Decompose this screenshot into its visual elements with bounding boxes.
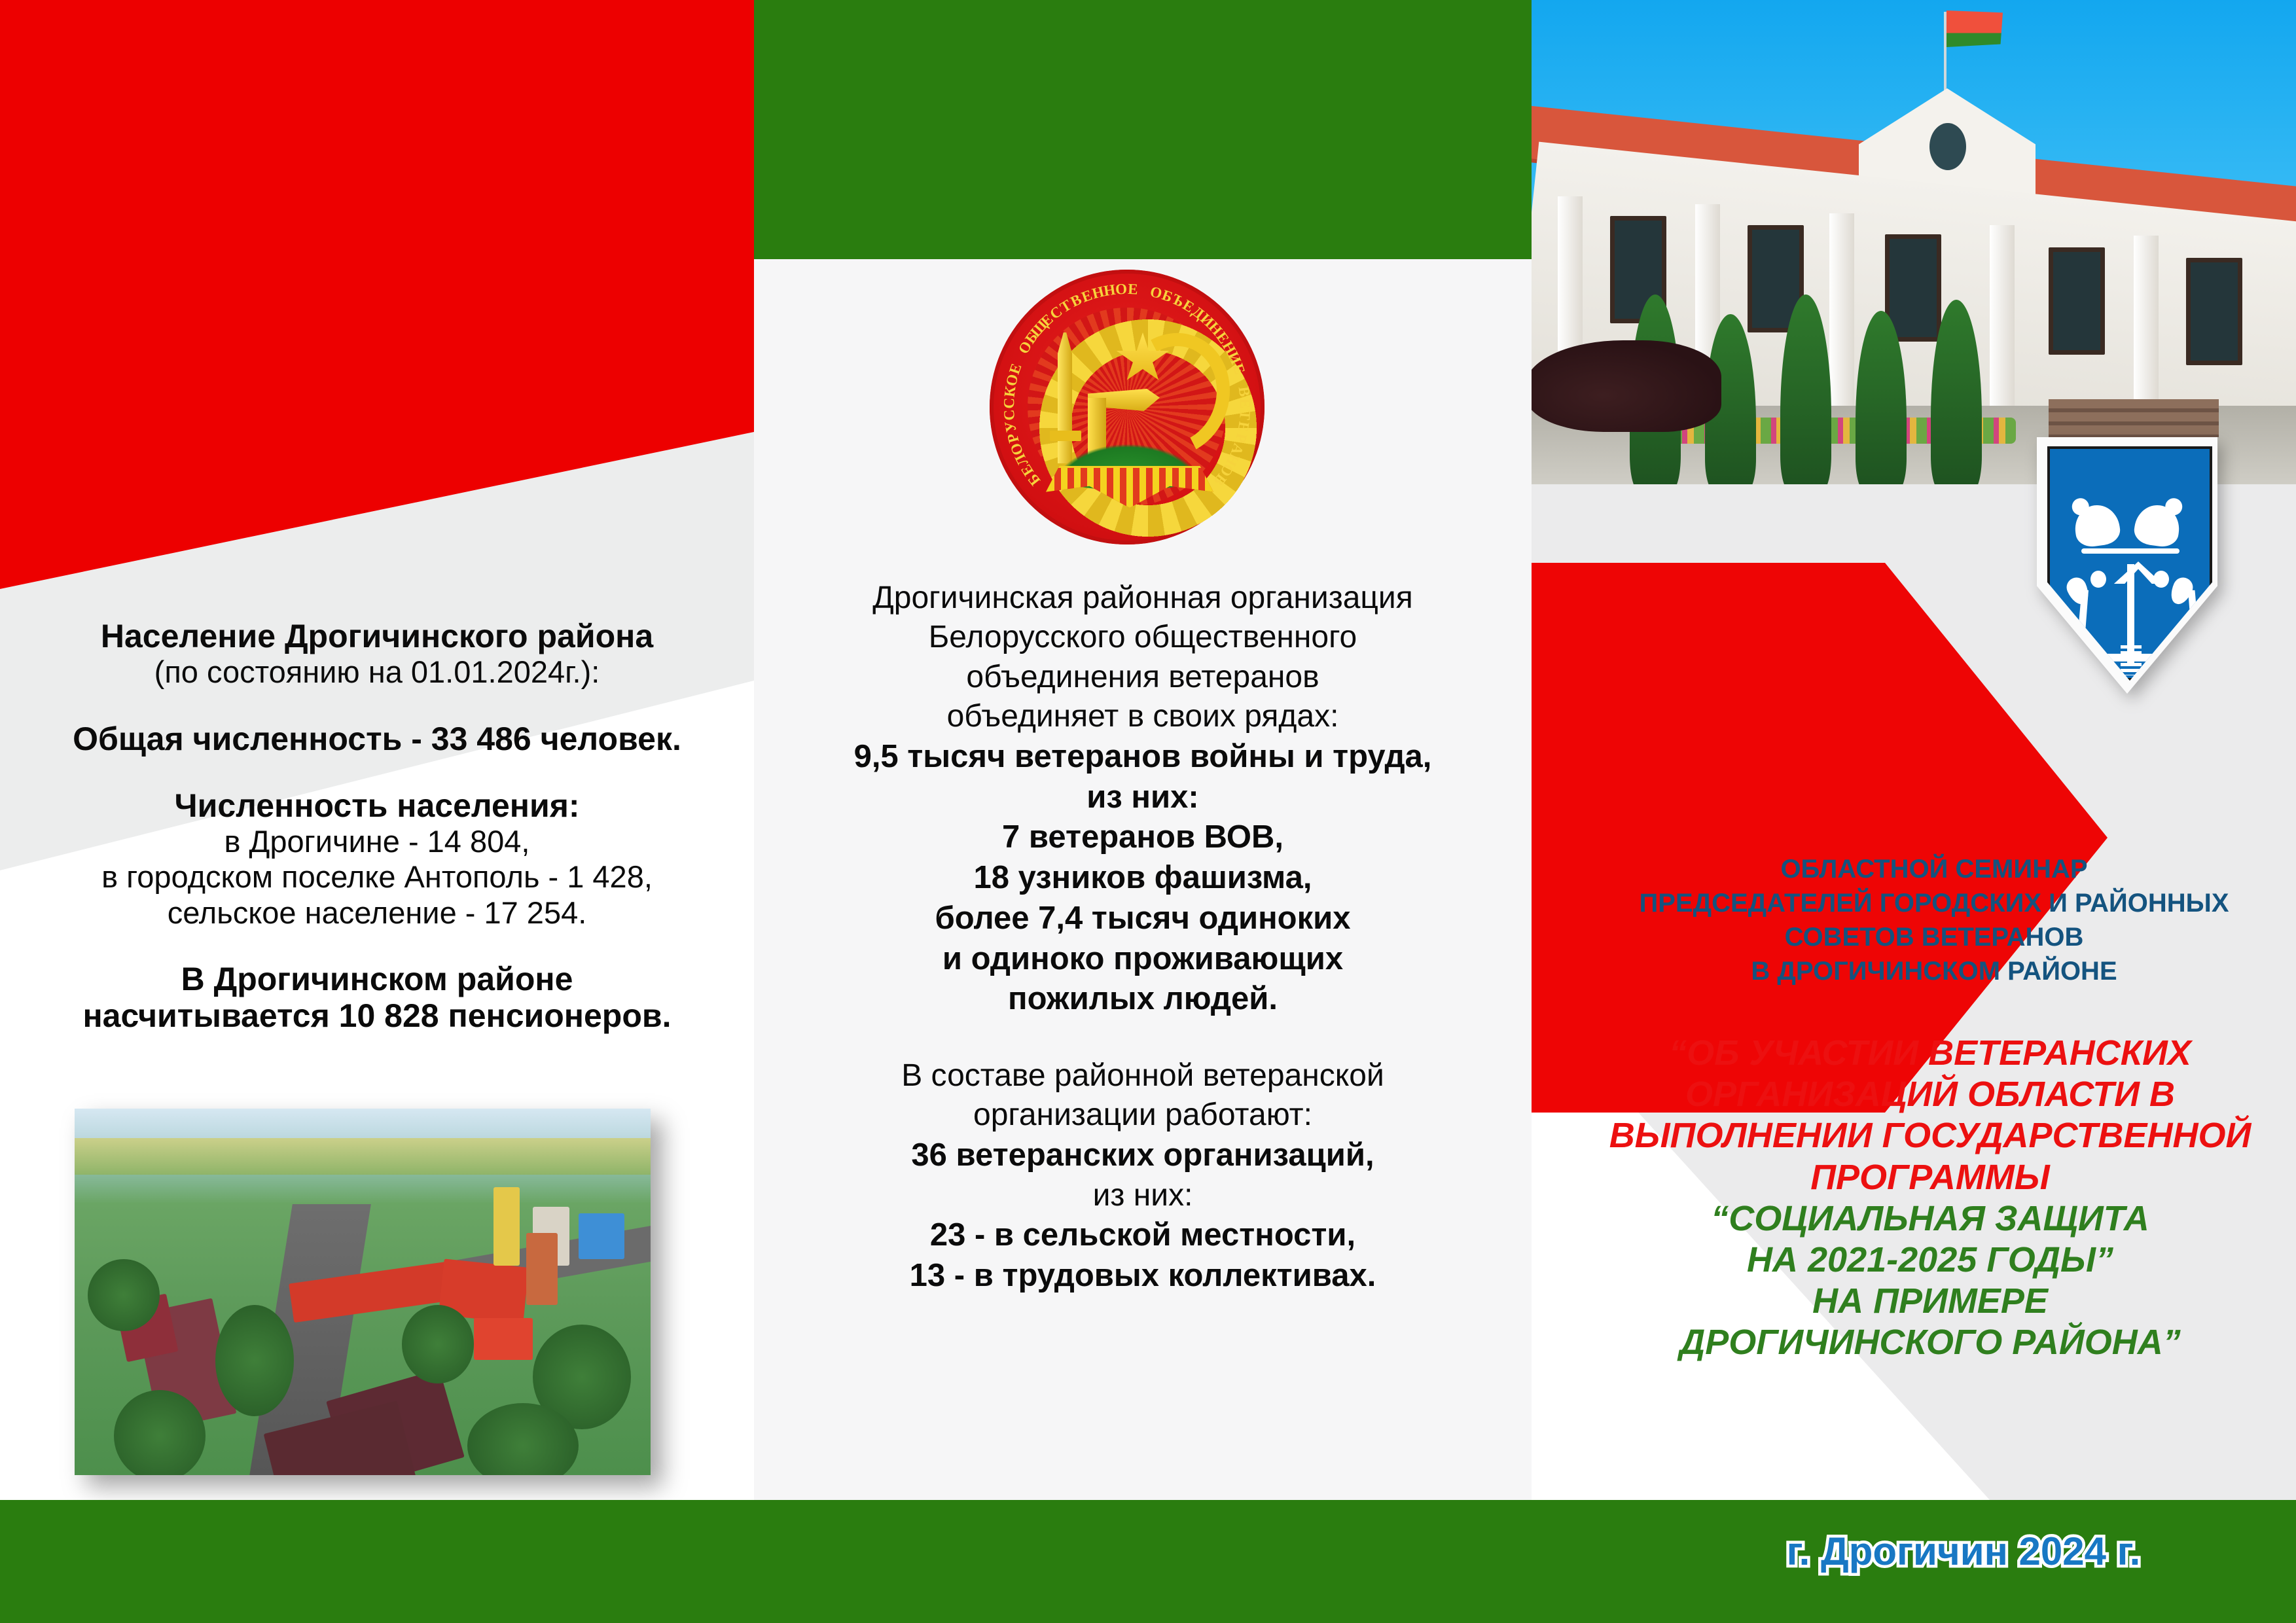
dove-icon — [2072, 503, 2122, 549]
stat-lonely-line-2: и одиноко проживающих — [783, 939, 1503, 980]
population-total: Общая численность - 33 486 человек. — [22, 721, 732, 757]
org-intro-line-3: объединения ветеранов — [783, 658, 1503, 697]
breakdown-drogichin: в Дрогичине - 14 804, — [22, 824, 732, 860]
title-red-line-1: “ОБ УЧАСТИИ ВЕТЕРАНСКИХ — [1577, 1033, 2283, 1074]
photo-trees — [402, 1305, 474, 1383]
column — [1829, 213, 1854, 429]
org-intro-line-1: Дрогичинская районная организация — [783, 579, 1503, 618]
title-green-line-2: НА 2021-2025 ГОДЫ” — [1577, 1240, 2283, 1281]
dark-bush — [1532, 340, 1721, 432]
aerial-town-photo — [75, 1109, 651, 1475]
breakdown-antopol: в городском поселке Антополь - 1 428, — [22, 859, 732, 895]
title-red-line-3: ВЫПОЛНЕНИИ ГОСУДАРСТВЕННОЙ — [1577, 1115, 2283, 1156]
title-red-line-2: ОРГАНИЗАЦИЙ ОБЛАСТИ В — [1577, 1074, 2283, 1115]
stat-wwii-veterans: 7 ветеранов ВОВ, — [783, 817, 1503, 858]
window — [2049, 247, 2105, 355]
stat-of-which: из них: — [783, 777, 1503, 818]
oculus-window — [1929, 123, 1966, 170]
window — [2186, 258, 2242, 365]
photo-trees — [114, 1390, 206, 1475]
belarus-flag-icon — [1946, 10, 2003, 47]
stat-lonely-line-1: более 7,4 тысяч одиноких — [783, 899, 1503, 939]
photo-trees — [88, 1259, 160, 1331]
veterans-organization-emblem: БЕЛОРУССКОЕ ОБЩЕСТВЕННОЕ ОБЪЕДИНЕНИЕ ВЕТ… — [990, 270, 1265, 544]
composition-of-which: из них: — [783, 1176, 1503, 1215]
composition-workplace: 13 - в трудовых коллективах. — [783, 1256, 1503, 1296]
administration-building-photo — [1532, 0, 2296, 484]
title-green-line-1: “СОЦИАЛЬНАЯ ЗАЩИТА — [1577, 1198, 2283, 1240]
seminar-line-4: В ДРОГИЧИНСКОМ РАЙОНЕ — [1590, 954, 2278, 988]
photo-apartment — [526, 1233, 558, 1305]
breakdown-rural: сельское население - 17 254. — [22, 895, 732, 931]
org-intro-line-4: объединяет в своих рядах: — [783, 697, 1503, 736]
stat-veterans-total: 9,5 тысяч ветеранов войны и труда, — [783, 737, 1503, 777]
shield-blue-field — [2047, 446, 2212, 681]
footer-location-year: г. Дрогичин 2024 г. — [1649, 1529, 2278, 1574]
seminar-line-3: СОВЕТОВ ВЕТЕРАНОВ — [1590, 920, 2278, 954]
left-column-text: Население Дрогичинского района (по состо… — [22, 618, 732, 1034]
org-intro-line-2: Белорусского общественного — [783, 618, 1503, 657]
stat-fascism-prisoners: 18 узников фашизма, — [783, 858, 1503, 899]
pensioners-line-1: В Дрогичинском районе — [22, 961, 732, 997]
title-red-line-4: ПРОГРАММЫ — [1577, 1157, 2283, 1198]
photo-trees — [215, 1305, 294, 1416]
population-subheading: (по состоянию на 01.01.2024г.): — [22, 654, 732, 690]
branch-icon — [2081, 548, 2179, 554]
flagpole — [1944, 12, 1946, 97]
composition-total: 36 ветеранских организаций, — [783, 1135, 1503, 1176]
composition-intro-line-2: организации работают: — [783, 1096, 1503, 1135]
pensioners-line-2: насчитывается 10 828 пенсионеров. — [22, 997, 732, 1034]
population-heading: Население Дрогичинского района — [22, 618, 732, 654]
population-breakdown-heading: Численность населения: — [22, 787, 732, 824]
stat-lonely-line-3: пожилых людей. — [783, 979, 1503, 1020]
poster-canvas: БЕЛОРУССКОЕ ОБЩЕСТВЕННОЕ ОБЪЕДИНЕНИЕ ВЕТ… — [0, 0, 2296, 1623]
dove-icon — [2132, 503, 2182, 549]
middle-column-text: Дрогичинская районная организация Белору… — [783, 579, 1503, 1296]
main-title-block: “ОБ УЧАСТИИ ВЕТЕРАНСКИХ ОРГАНИЗАЦИЙ ОБЛА… — [1577, 1033, 2283, 1363]
photo-tower-block — [493, 1187, 520, 1266]
composition-rural: 23 - в сельской местности, — [783, 1215, 1503, 1256]
seminar-heading-block: ОБЛАСТНОЙ СЕМИНАР ПРЕДСЕДАТЕЛЕЙ ГОРОДСКИ… — [1590, 852, 2278, 988]
photo-sky — [75, 1109, 651, 1141]
seminar-line-1: ОБЛАСТНОЙ СЕМИНАР — [1590, 852, 2278, 886]
photo-building-roof — [474, 1318, 533, 1360]
photo-apartment — [579, 1213, 624, 1259]
green-flag-band-top-middle — [754, 0, 1532, 259]
photo-fields — [75, 1138, 651, 1175]
seminar-line-2: ПРЕДСЕДАТЕЛЕЙ ГОРОДСКИХ И РАЙОННЫХ — [1590, 886, 2278, 920]
title-green-line-4: ДРОГИЧИНСКОГО РАЙОНА” — [1577, 1322, 2283, 1363]
coat-of-arms-drogichin — [2037, 437, 2217, 694]
composition-intro-line-1: В составе районной ветеранской — [783, 1056, 1503, 1096]
acorn-icon — [2090, 571, 2106, 588]
emblem-circular-text: БЕЛОРУССКОЕ ОБЩЕСТВЕННОЕ ОБЪЕДИНЕНИЕ ВЕТ… — [990, 270, 1265, 544]
entrance-steps — [2049, 399, 2219, 437]
title-green-line-3: НА ПРИМЕРЕ — [1577, 1281, 2283, 1322]
